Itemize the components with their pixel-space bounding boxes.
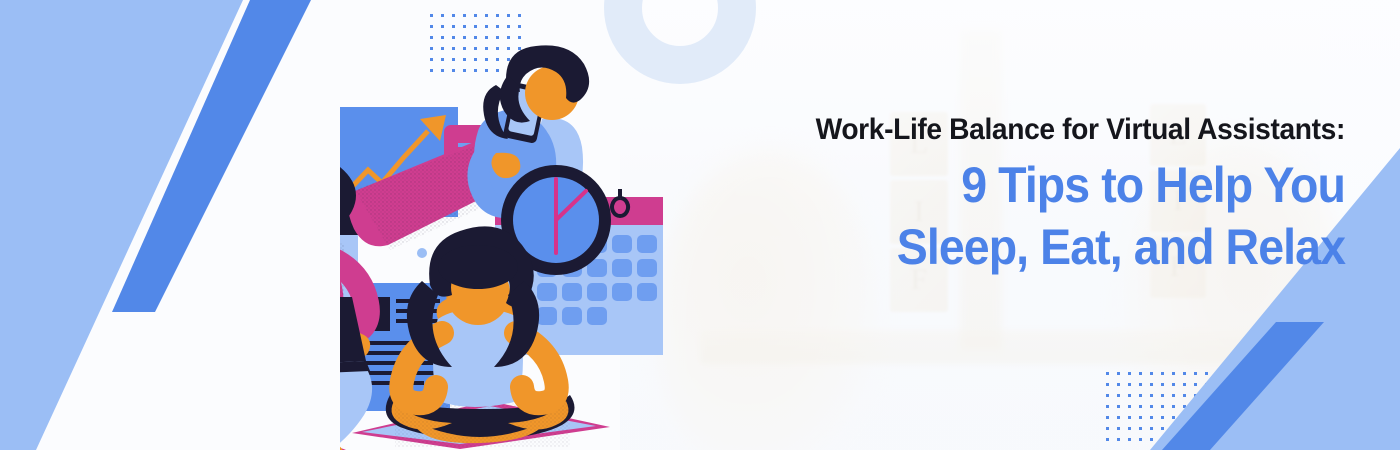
dot-grid-dot <box>1128 372 1131 375</box>
dot-grid-dot <box>441 14 444 17</box>
dot-grid-dot <box>485 14 488 17</box>
dot-grid-dot <box>463 14 466 17</box>
dot-grid-dot <box>1128 394 1131 397</box>
dot-grid-dot <box>1194 383 1197 386</box>
dot-grid-dot <box>1150 394 1153 397</box>
dot-grid-dot <box>463 36 466 39</box>
dot-grid-dot <box>1150 438 1153 441</box>
dot-grid-dot <box>1106 383 1109 386</box>
dot-grid-dot <box>507 25 510 28</box>
dot-grid-dot <box>1117 383 1120 386</box>
dot-grid-dot <box>441 36 444 39</box>
page-subtitle-line-1: 9 Tips to Help You <box>736 154 1345 216</box>
dot-grid-dot <box>1150 372 1153 375</box>
dot-grid-dot <box>1172 405 1175 408</box>
dot-grid-dot <box>507 36 510 39</box>
dot-grid-dot <box>1172 372 1175 375</box>
dot-grid-dot <box>463 25 466 28</box>
dot-grid-dot <box>1139 394 1142 397</box>
dot-grid-dot <box>1183 372 1186 375</box>
dot-grid-dot <box>1106 427 1109 430</box>
dot-grid-dot <box>430 25 433 28</box>
dot-grid-dot <box>1128 383 1131 386</box>
dot-grid-dot <box>1117 438 1120 441</box>
dot-grid-dot <box>1128 438 1131 441</box>
dot-grid-dot <box>474 25 477 28</box>
dot-grid-dot <box>1139 405 1142 408</box>
dot-grid-dot <box>452 14 455 17</box>
dot-grid-dot <box>1139 438 1142 441</box>
dot-grid-dot <box>1139 416 1142 419</box>
dot-grid-dot <box>1128 405 1131 408</box>
dot-grid-dot <box>1172 383 1175 386</box>
page-subtitle-line-2: Sleep, Eat, and Relax <box>736 216 1345 278</box>
dot-grid-dot <box>1205 372 1208 375</box>
dot-grid-dot <box>430 36 433 39</box>
dot-grid-dot <box>1161 416 1164 419</box>
dot-grid-dot <box>1139 372 1142 375</box>
dot-grid-dot <box>1172 416 1175 419</box>
headline-block: Work-Life Balance for Virtual Assistants… <box>690 112 1345 278</box>
dot-grid-dot <box>1106 394 1109 397</box>
dot-grid-dot <box>430 14 433 17</box>
dot-grid-dot <box>507 14 510 17</box>
dot-grid-dot <box>474 36 477 39</box>
dot-grid-dot <box>496 36 499 39</box>
dot-grid-dot <box>1117 427 1120 430</box>
dot-grid-dot <box>474 14 477 17</box>
dot-grid-dot <box>1161 394 1164 397</box>
dot-grid-dot <box>1183 383 1186 386</box>
dot-grid-dot <box>1117 372 1120 375</box>
dot-grid-dot <box>1150 405 1153 408</box>
dot-grid-dot <box>452 36 455 39</box>
dot-grid-dot <box>452 25 455 28</box>
dot-grid-dot <box>1172 394 1175 397</box>
dot-grid-dot <box>1106 438 1109 441</box>
decor-circle-blue-2 <box>417 248 427 258</box>
dot-grid-dot <box>485 25 488 28</box>
dot-grid-dot <box>1106 416 1109 419</box>
dot-grid-dot <box>1150 427 1153 430</box>
banner: L I F L I F <box>0 0 1400 450</box>
dot-grid-dot <box>1150 383 1153 386</box>
dot-grid-dot <box>1106 405 1109 408</box>
dot-grid-dot <box>1117 394 1120 397</box>
dot-grid-dot <box>1161 405 1164 408</box>
dot-grid-dot <box>1117 405 1120 408</box>
dot-grid-dot <box>1106 372 1109 375</box>
dot-grid-dot <box>1161 372 1164 375</box>
dot-grid-dot <box>1139 427 1142 430</box>
dot-grid-dot <box>1194 372 1197 375</box>
page-title-line-1: Work-Life Balance for Virtual Assistants… <box>729 112 1345 148</box>
dot-grid-dot <box>1139 383 1142 386</box>
dot-grid-dot <box>1150 416 1153 419</box>
dot-grid-dot <box>1183 394 1186 397</box>
dot-grid-dot <box>441 25 444 28</box>
page-subtitle: 9 Tips to Help You Sleep, Eat, and Relax <box>736 154 1345 278</box>
dot-grid-dot <box>1161 383 1164 386</box>
dot-grid-dot <box>518 25 521 28</box>
dot-grid-dot <box>518 36 521 39</box>
dot-grid-dot <box>496 14 499 17</box>
dot-grid-dot <box>1117 416 1120 419</box>
dot-grid-dot <box>1128 416 1131 419</box>
dot-grid-dot <box>496 25 499 28</box>
dot-grid-dot <box>485 36 488 39</box>
dot-grid-dot <box>518 14 521 17</box>
dot-grid-dot <box>1128 427 1131 430</box>
dot-grid-dot <box>1161 427 1164 430</box>
